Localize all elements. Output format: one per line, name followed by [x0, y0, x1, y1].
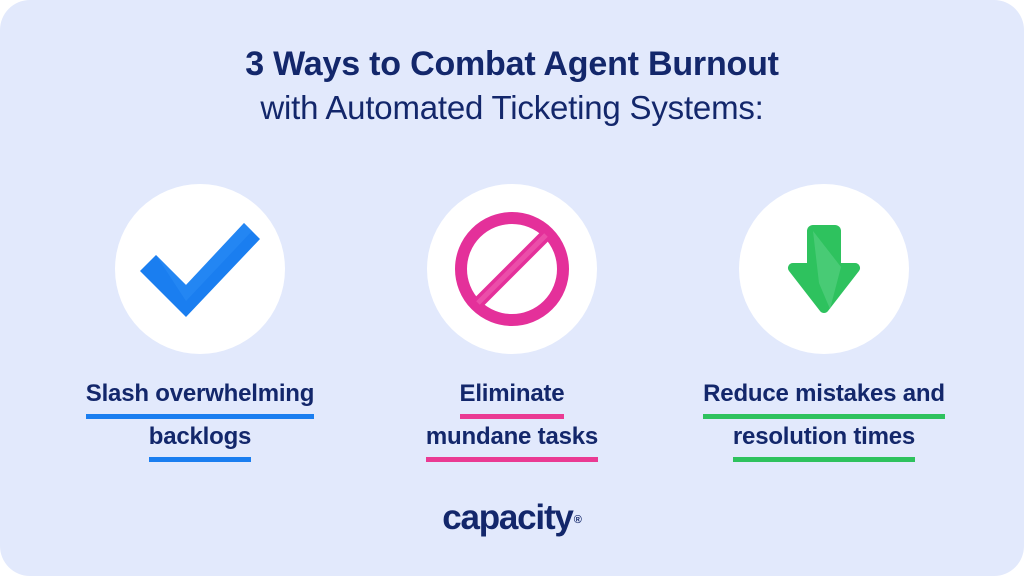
benefit-column-1: Slash overwhelming backlogs — [44, 184, 356, 462]
benefit-caption-3: Reduce mistakes and resolution times — [703, 376, 945, 462]
benefit-caption-2: Eliminate mundane tasks — [426, 376, 598, 462]
caption-line: resolution times — [733, 419, 915, 462]
page-title: 3 Ways to Combat Agent Burnout with Auto… — [0, 42, 1024, 130]
down-arrow-icon — [786, 223, 862, 315]
brand-logo: capacity® — [0, 498, 1024, 538]
benefit-column-2: Eliminate mundane tasks — [356, 184, 668, 462]
logo-wordmark: capacity — [442, 498, 573, 537]
icon-circle-1 — [115, 184, 285, 354]
icon-circle-2 — [427, 184, 597, 354]
caption-line: Reduce mistakes and — [703, 376, 945, 419]
icon-circle-3 — [739, 184, 909, 354]
title-line-2: with Automated Ticketing Systems: — [0, 86, 1024, 130]
prohibition-icon — [453, 210, 571, 328]
registered-trademark-icon: ® — [574, 514, 582, 526]
caption-line: Slash overwhelming — [86, 376, 314, 419]
title-line-1: 3 Ways to Combat Agent Burnout — [0, 42, 1024, 86]
benefit-columns: Slash overwhelming backlogs Eliminate mu… — [0, 184, 1024, 462]
caption-line: Eliminate — [460, 376, 565, 419]
benefit-caption-1: Slash overwhelming backlogs — [86, 376, 314, 462]
checkmark-icon — [136, 219, 264, 319]
benefit-column-3: Reduce mistakes and resolution times — [668, 184, 980, 462]
infographic-card: 3 Ways to Combat Agent Burnout with Auto… — [0, 0, 1024, 576]
caption-line: mundane tasks — [426, 419, 598, 462]
caption-line: backlogs — [149, 419, 251, 462]
